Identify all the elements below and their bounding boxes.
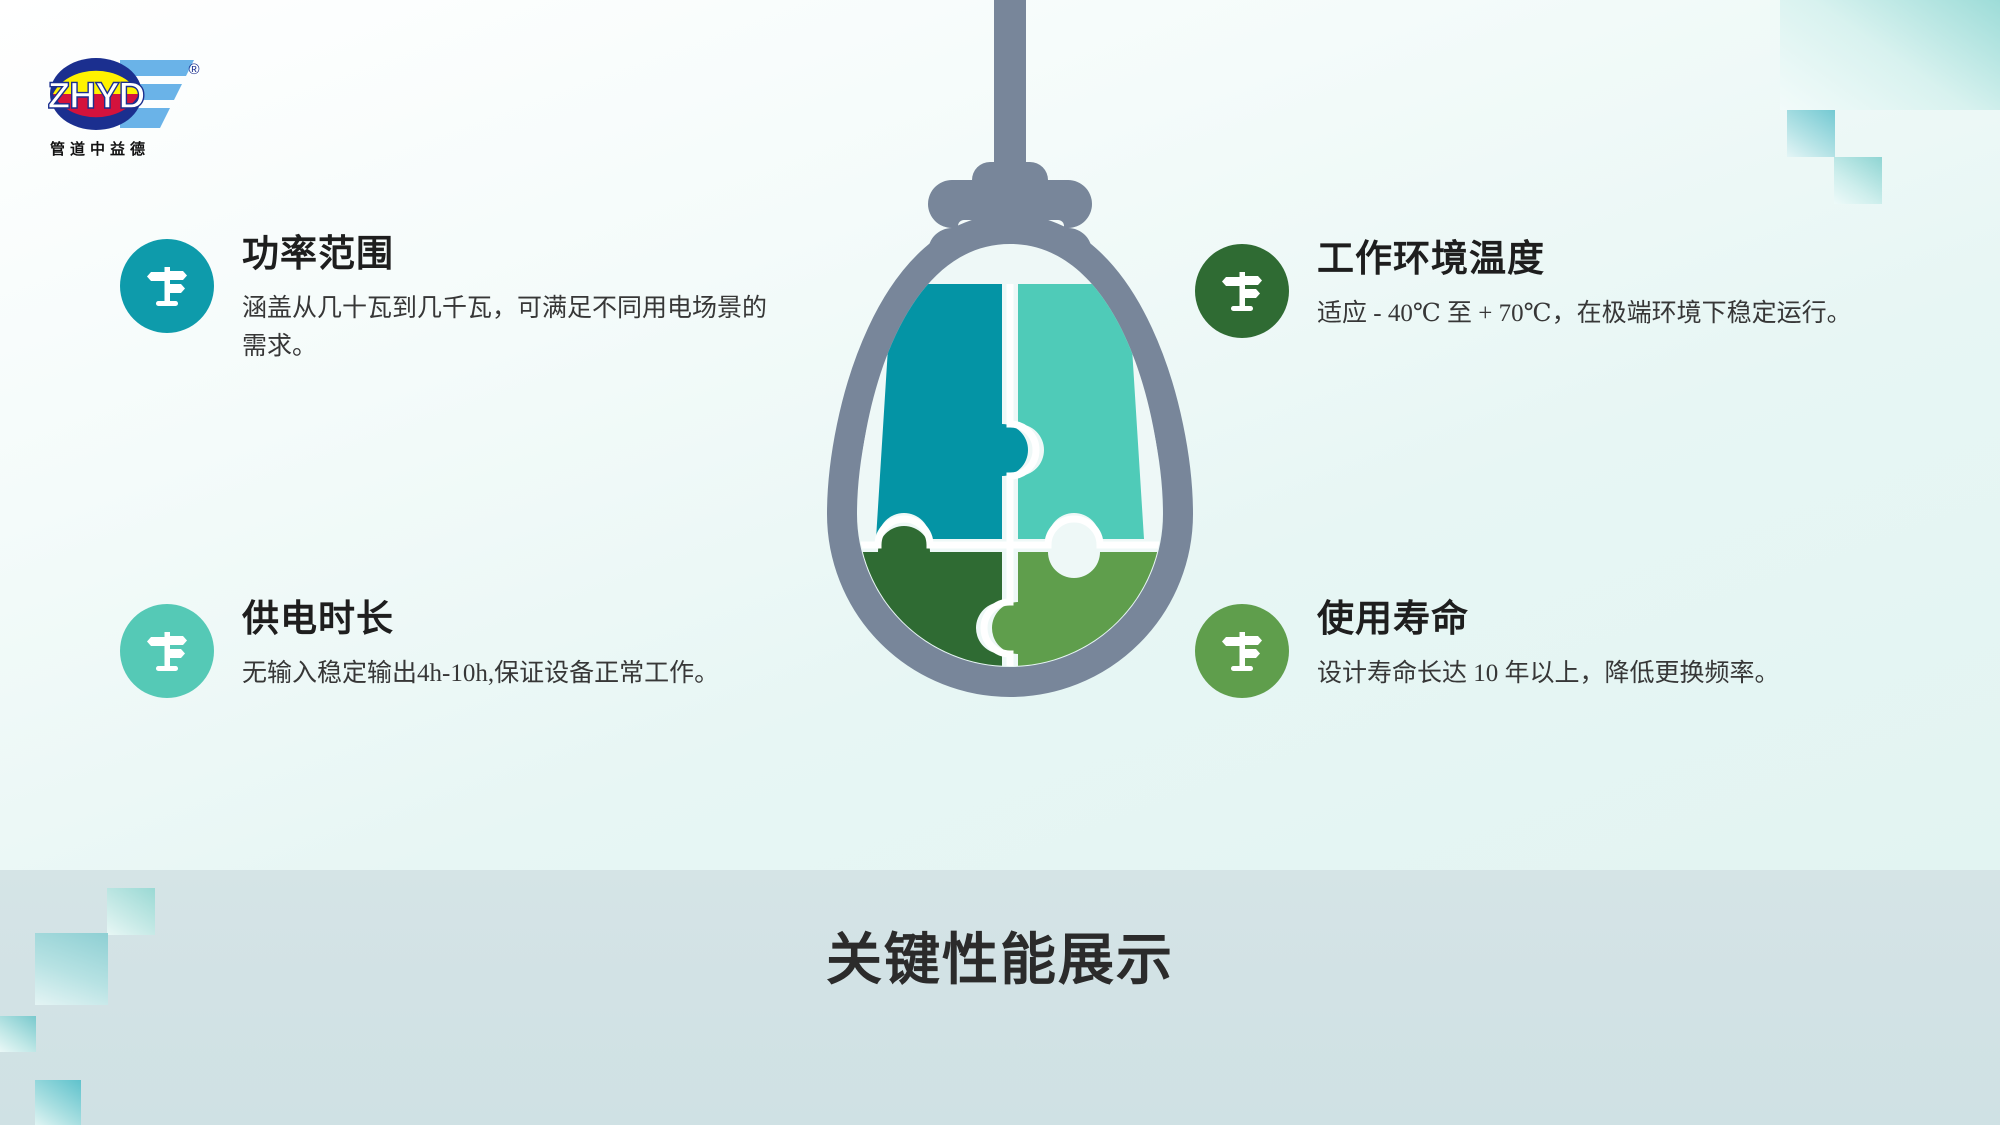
feature-operating-temperature[interactable]: 工作环境温度 适应 - 40℃ 至 + 70℃，在极端环境下稳定运行。 xyxy=(1195,240,1915,338)
decorative-square-top-right-small xyxy=(1834,157,1882,204)
bottom-banner xyxy=(0,870,2000,1125)
feature-runtime-description: 无输入稳定输出4h-10h,保证设备正常工作。 xyxy=(242,655,780,693)
feature-lifespan-description: 设计寿命长达 10 年以上，降低更换频率。 xyxy=(1317,655,1915,693)
feature-temperature-description: 适应 - 40℃ 至 + 70℃，在极端环境下稳定运行。 xyxy=(1317,295,1915,333)
company-logo: ZHYD ® 管道中益德 xyxy=(44,42,212,162)
svg-text:ZHYD: ZHYD xyxy=(48,75,145,116)
signpost-icon xyxy=(141,625,193,677)
feature-temperature-title: 工作环境温度 xyxy=(1317,240,1915,281)
slide-canvas: ZHYD ® 管道中益德 xyxy=(0,0,2000,1125)
feature-service-life[interactable]: 使用寿命 设计寿命长达 10 年以上，降低更换频率。 xyxy=(1195,600,1915,698)
signpost-icon xyxy=(141,260,193,312)
bulb-puzzle-pieces xyxy=(840,284,1180,719)
signpost-icon xyxy=(1216,625,1268,677)
decorative-square-top-right-mid xyxy=(1787,110,1835,157)
slide-title: 关键性能展示 xyxy=(0,915,2000,996)
feature-lifespan-badge xyxy=(1195,604,1289,698)
decorative-square-top-right-large xyxy=(1780,0,2000,110)
registered-mark-icon: ® xyxy=(188,61,199,78)
logo-subtitle: 管道中益德 xyxy=(50,140,150,158)
feature-runtime-title: 供电时长 xyxy=(242,600,780,641)
feature-temperature-badge xyxy=(1195,244,1289,338)
feature-power-title: 功率范围 xyxy=(242,235,780,276)
feature-power-supply-duration[interactable]: 供电时长 无输入稳定输出4h-10h,保证设备正常工作。 xyxy=(120,600,780,698)
feature-power-badge xyxy=(120,239,214,333)
signpost-icon xyxy=(1216,265,1268,317)
feature-runtime-badge xyxy=(120,604,214,698)
feature-power-description: 涵盖从几十瓦到几千瓦，可满足不同用电场景的需求。 xyxy=(242,290,780,366)
lightbulb-puzzle-illustration xyxy=(780,0,1240,834)
feature-lifespan-title: 使用寿命 xyxy=(1317,600,1915,641)
feature-power-range[interactable]: 功率范围 涵盖从几十瓦到几千瓦，可满足不同用电场景的需求。 xyxy=(120,235,780,366)
bulb-cord xyxy=(994,0,1026,184)
